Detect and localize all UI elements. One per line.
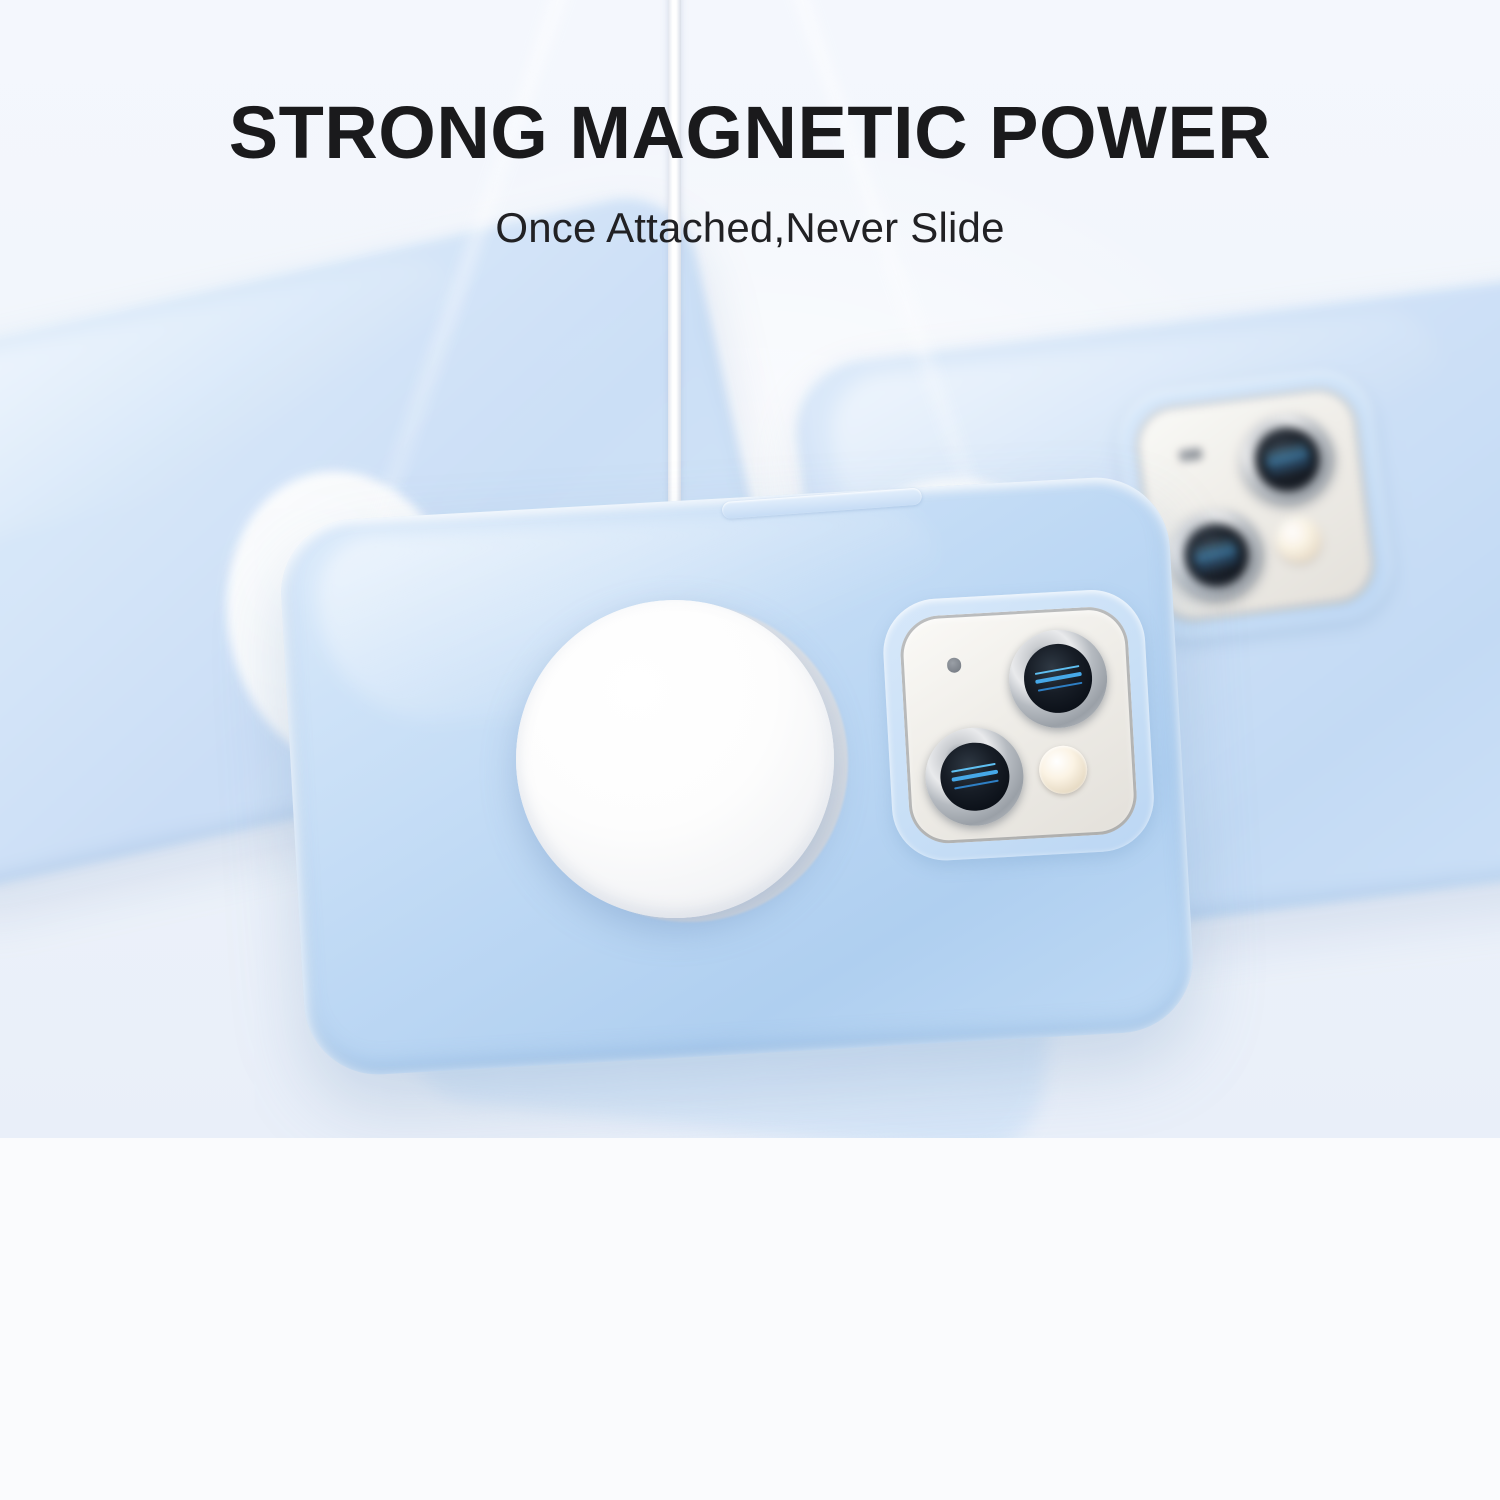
magnetic-strength-chart-section: Magnetic Strength TOUGH ON 1,100g (0, 1138, 1500, 1500)
camera-lens-wide (1007, 627, 1110, 730)
magsafe-charger-front (516, 600, 834, 918)
camera-module (880, 587, 1156, 863)
camera-lens-wide (1236, 409, 1340, 510)
camera-plate (898, 605, 1138, 845)
lens-glass (1022, 642, 1094, 714)
lens-flare (1266, 452, 1310, 467)
microphone-dot (946, 658, 962, 674)
lens-glass (1251, 424, 1324, 495)
lens-flare (1195, 547, 1239, 562)
camera-flash (1273, 514, 1325, 565)
hero-section: STRONG MAGNETIC POWER Once Attached,Neve… (0, 0, 1500, 1138)
camera-flash (1038, 744, 1088, 794)
lens-glass (938, 741, 1010, 813)
page-title: STRONG MAGNETIC POWER (0, 96, 1500, 170)
microphone-dot (1179, 448, 1202, 461)
lens-flare (951, 770, 998, 782)
lens-glass (1180, 520, 1253, 591)
page-subtitle: Once Attached,Never Slide (0, 204, 1500, 252)
camera-lens-ultrawide (923, 725, 1026, 828)
camera-lens-ultrawide (1165, 505, 1269, 606)
lens-flare (1035, 672, 1082, 684)
product-marketing-image: STRONG MAGNETIC POWER Once Attached,Neve… (0, 0, 1500, 1500)
